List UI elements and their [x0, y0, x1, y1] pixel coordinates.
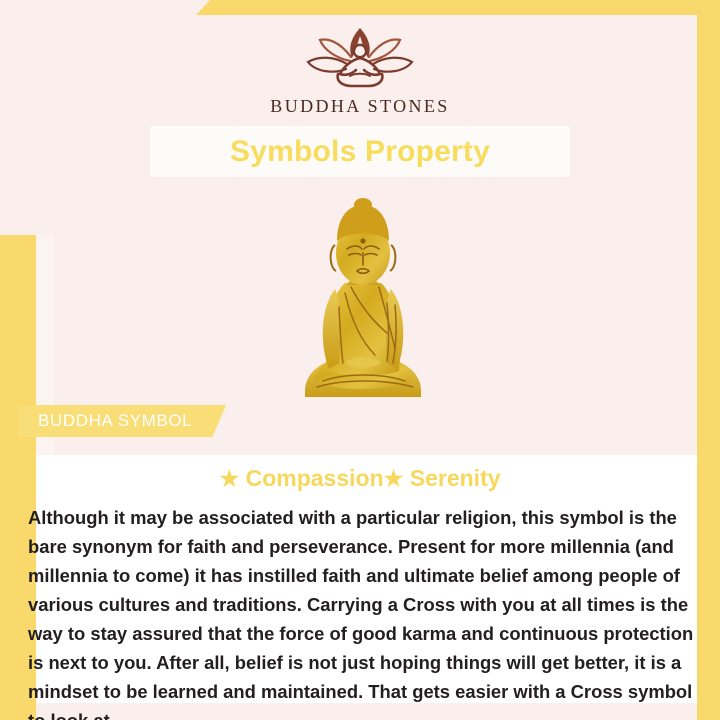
star-icon-left: ★: [219, 466, 239, 491]
description-paragraph: Although it may be associated with a par…: [28, 503, 694, 720]
symbol-category-label: BUDDHA SYMBOL: [38, 411, 192, 431]
attribute-serenity: Serenity: [410, 465, 501, 491]
brand-wordmark: BUDDHA STONES: [0, 96, 720, 117]
page-title: Symbols Property: [230, 135, 490, 169]
attribute-compassion: Compassion: [246, 465, 384, 491]
brand-logo-block: BUDDHA STONES: [0, 24, 720, 117]
golden-seated-buddha-statue: [283, 183, 443, 408]
buddha-statue-image: [283, 183, 443, 408]
symbol-category-tag: BUDDHA SYMBOL: [18, 405, 226, 437]
star-icon-right: ★: [384, 466, 404, 491]
infographic-page: BUDDHA STONES Symbols Property: [0, 0, 720, 720]
title-banner: Symbols Property: [150, 126, 570, 177]
lotus-meditation-figure-icon: [290, 24, 430, 90]
top-yellow-frame-bar: [196, 0, 720, 15]
attributes-subtitle: ★ Compassion★ Serenity: [0, 465, 720, 492]
